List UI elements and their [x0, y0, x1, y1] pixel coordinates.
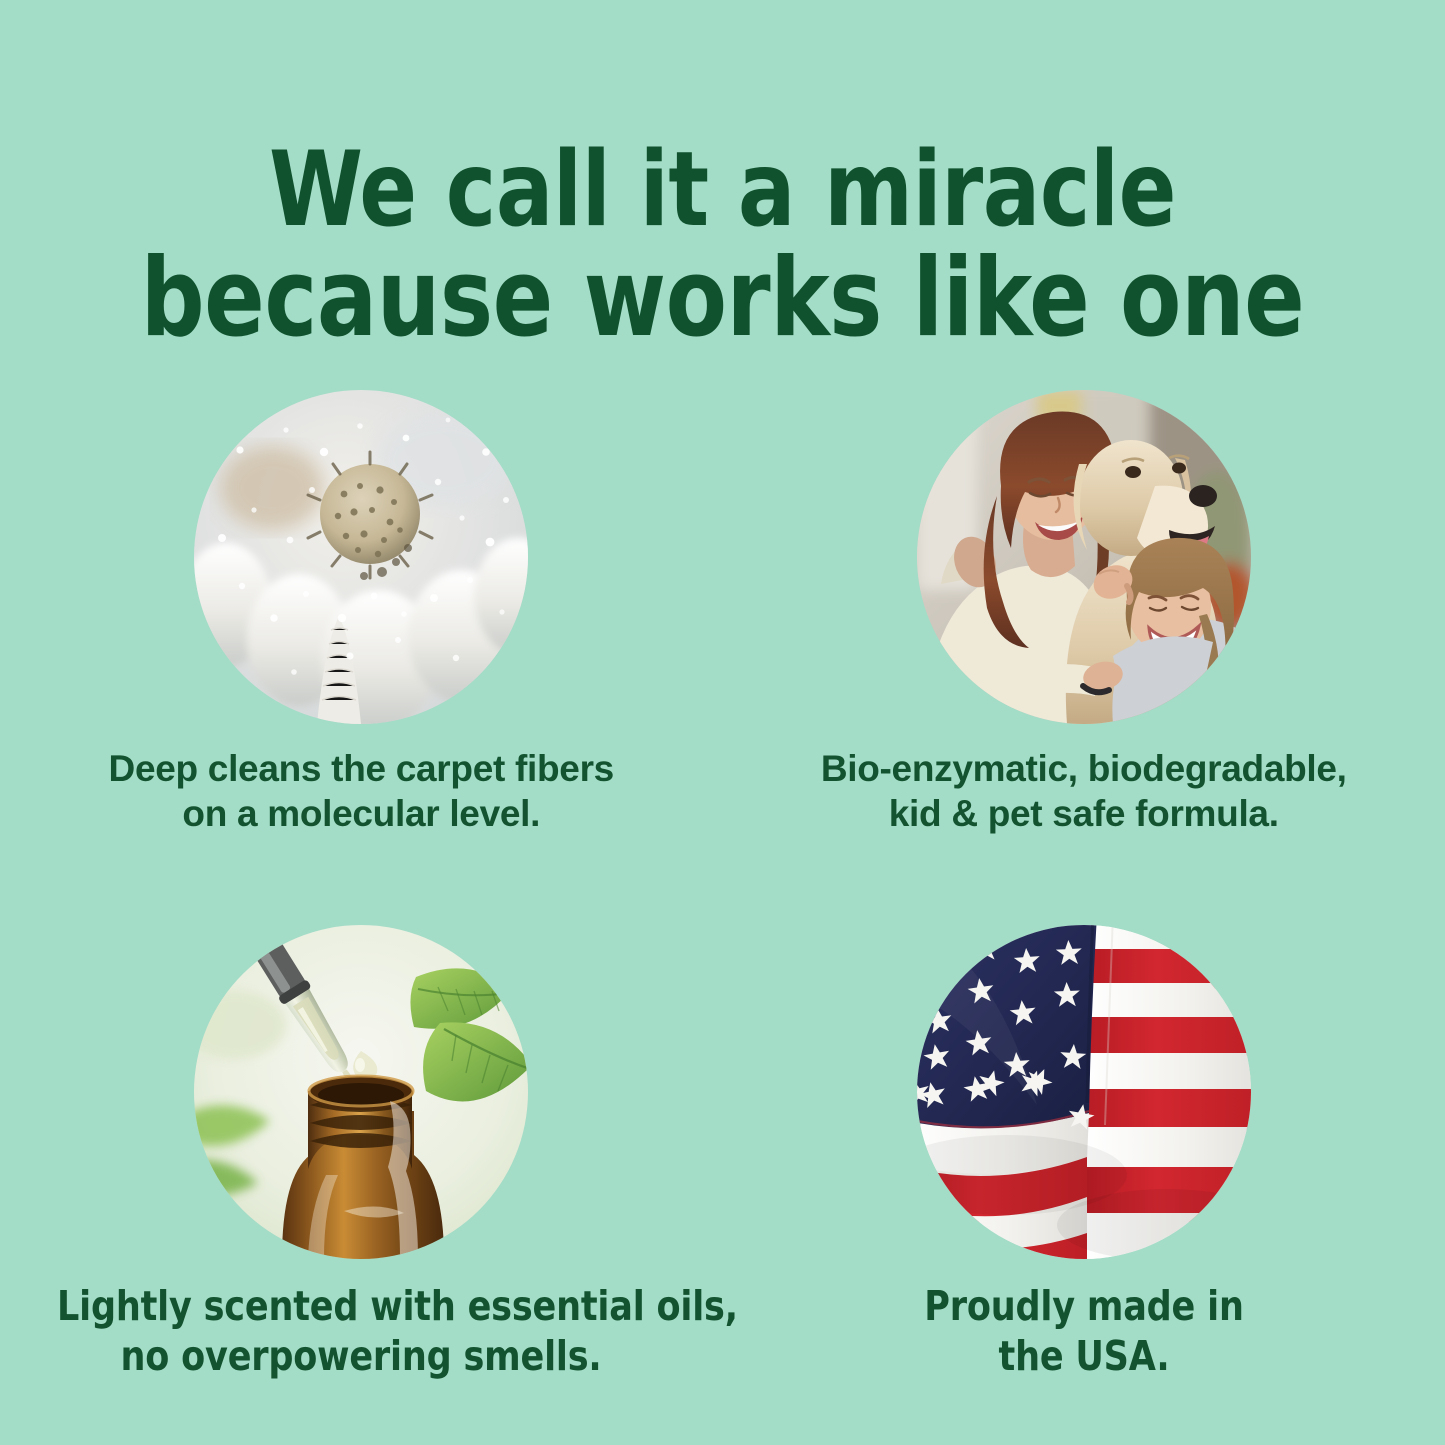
caption-line-1: Deep cleans the carpet fibers — [41, 746, 681, 791]
caption-line-2: no overpowering smells. — [57, 1331, 665, 1381]
caption-line-2: the USA. — [780, 1331, 1388, 1381]
feature-grid: Deep cleans the carpet fibers on a molec… — [0, 390, 1445, 1422]
caption-line-1: Bio-enzymatic, biodegradable, — [764, 746, 1404, 791]
caption-line-1: Proudly made in — [780, 1281, 1388, 1331]
caption-line-2: on a molecular level. — [41, 791, 681, 836]
american-flag-photo — [917, 925, 1251, 1259]
caption-line-1: Lightly scented with essential oils, — [57, 1281, 665, 1331]
headline-line-1: We call it a miracle — [58, 137, 1387, 243]
feature-poster: We call it a miracle because works like … — [0, 0, 1445, 1445]
carpet-fiber-macro-photo — [194, 390, 528, 724]
page-title: We call it a miracle because works like … — [58, 137, 1387, 354]
feature-caption: Deep cleans the carpet fibers on a molec… — [41, 746, 681, 836]
feature-lightly-scented: Lightly scented with essential oils, no … — [0, 925, 723, 1422]
family-with-dog-photo — [917, 390, 1251, 724]
essential-oil-dropper-photo — [194, 925, 528, 1259]
caption-line-2: kid & pet safe formula. — [764, 791, 1404, 836]
feature-caption: Proudly made in the USA. — [780, 1281, 1388, 1381]
feature-kid-pet-safe: Bio-enzymatic, biodegradable, kid & pet … — [723, 390, 1445, 873]
feature-caption: Lightly scented with essential oils, no … — [57, 1281, 665, 1381]
feature-caption: Bio-enzymatic, biodegradable, kid & pet … — [764, 746, 1404, 836]
feature-deep-clean: Deep cleans the carpet fibers on a molec… — [0, 390, 723, 873]
headline-line-2: because works like one — [58, 243, 1387, 354]
feature-made-in-usa: Proudly made in the USA. — [723, 925, 1445, 1422]
